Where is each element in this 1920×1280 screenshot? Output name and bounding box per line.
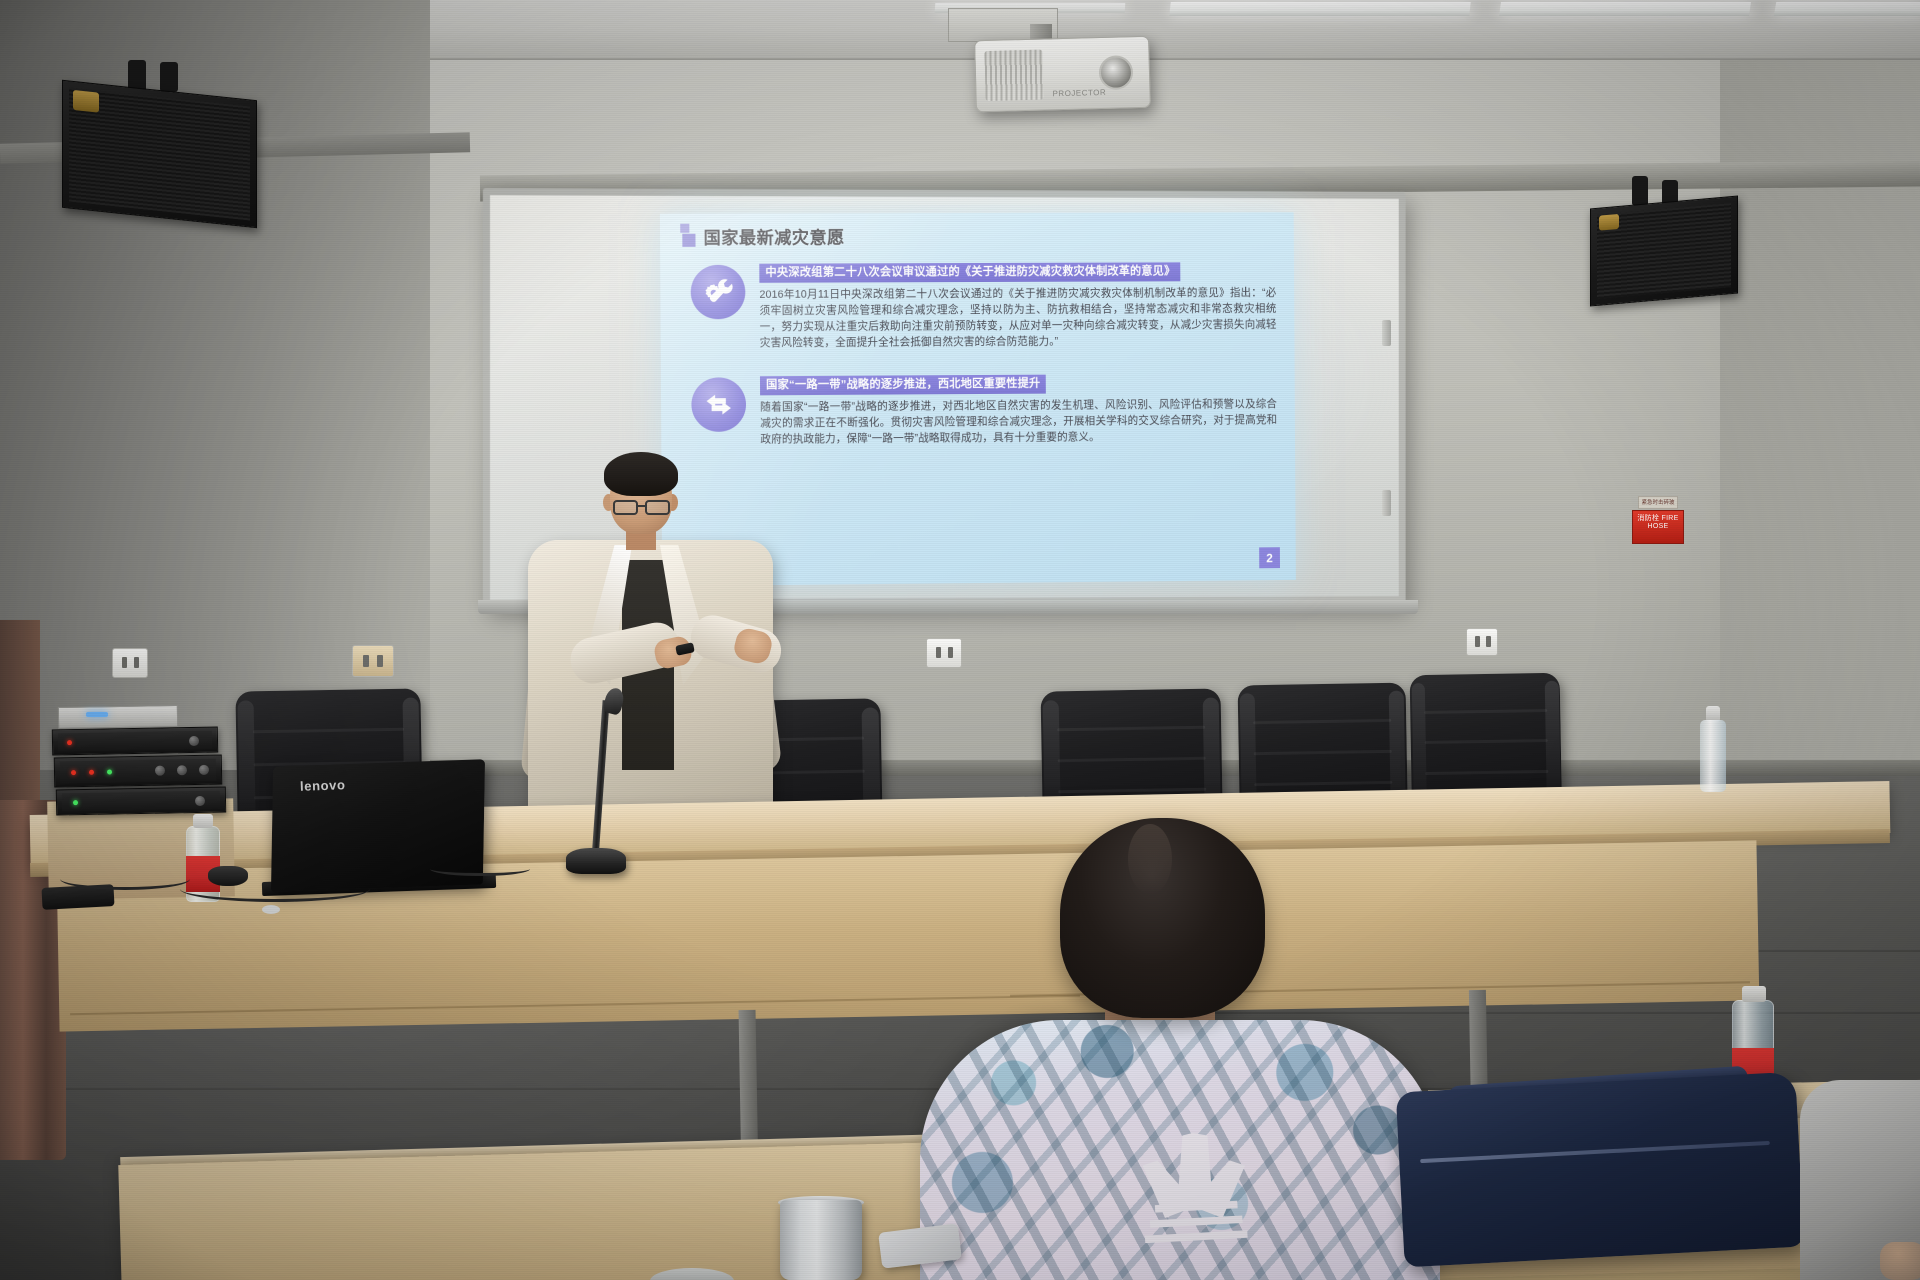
- equipment-power-led: [86, 712, 108, 717]
- whiteboard-hinge: [1382, 490, 1391, 516]
- right-edge-person-hand: [1880, 1242, 1920, 1280]
- ceiling-light: [1499, 2, 1751, 16]
- cable: [60, 868, 190, 890]
- fire-hose-sign: 消防栓 FIRE HOSE: [1632, 510, 1684, 544]
- slide-block-2-heading: 国家“一路一带”战略的逐步推进，西北地区重要性提升: [760, 375, 1045, 396]
- sanitizer-bottle[interactable]: [1700, 720, 1726, 792]
- desk-microphone[interactable]: [566, 848, 626, 874]
- slide-page-number: 2: [1259, 547, 1280, 568]
- speaker-badge: [1599, 214, 1619, 231]
- stainless-steel-mug[interactable]: [780, 1200, 862, 1280]
- projected-slide: 国家最新减灾意愿 中央深改组第二十八次会议审议通过的《关于推进防灾减灾救灾体制改…: [660, 212, 1296, 586]
- adidas-trefoil-logo: [1120, 1128, 1270, 1248]
- wall-outlet[interactable]: [1466, 628, 1498, 656]
- wall-outlet[interactable]: [926, 638, 962, 668]
- water-bottle-cap: [1742, 986, 1766, 1002]
- desk-item[interactable]: [262, 905, 280, 914]
- fire-sign-label: 紧急时击碎玻璃: [1638, 496, 1678, 509]
- whiteboard-hinge: [1382, 320, 1391, 346]
- slide-title-row: 国家最新减灾意愿: [682, 228, 1276, 247]
- slide-block-1-body: 2016年10月11日中央深改组第二十八次会议通过的《关于推进防灾减灾救灾体制机…: [759, 285, 1276, 352]
- navy-shoulder-bag[interactable]: [1396, 1072, 1805, 1268]
- amplifier-unit[interactable]: [52, 727, 218, 756]
- lecture-room-photo: PROJECTOR 国家最新减灾意愿 中央深改组第二十八次会议审议通过: [0, 0, 1920, 1280]
- ceiling-light: [1169, 2, 1470, 16]
- slide-block-2: 国家“一路一带”战略的逐步推进，西北地区重要性提升 随着国家“一路一带”战略的逐…: [683, 372, 1277, 472]
- speaker-mount: [1632, 176, 1648, 206]
- wall-speaker-right: [1590, 196, 1738, 307]
- wrench-gear-icon: [691, 265, 746, 320]
- equipment-unit-silver[interactable]: [58, 705, 178, 729]
- speaker-mount: [160, 62, 178, 92]
- wall-speaker-left: [62, 80, 257, 228]
- projector-label: PROJECTOR: [1052, 88, 1106, 98]
- audience-hair-part: [1128, 824, 1172, 894]
- speaker-badge: [73, 90, 99, 113]
- ceiling-light: [1774, 2, 1920, 16]
- slide-block-1-heading: 中央深改组第二十八次会议审议通过的《关于推进防灾减灾救灾体制改革的意见》: [759, 262, 1180, 282]
- title-decoration-square: [682, 234, 695, 247]
- wall-outlet[interactable]: [112, 648, 148, 678]
- water-bottle-cap: [193, 814, 213, 828]
- cable: [430, 862, 530, 876]
- two-way-arrows-icon: [691, 377, 746, 432]
- curtain: [0, 620, 40, 820]
- projector-lens: [1099, 55, 1134, 90]
- wall-outlet[interactable]: [352, 645, 394, 677]
- laptop-brand-logo: lenovo: [300, 777, 346, 794]
- slide-block-2-body: 随着国家“一路一带”战略的逐步推进，对西北地区自然灾害的发生机理、风险识别、风险…: [760, 396, 1277, 448]
- eyeglasses-bridge: [638, 505, 647, 507]
- eyeglasses-icon: [645, 500, 670, 515]
- ceiling-projector: PROJECTOR: [974, 36, 1151, 113]
- slide-block-1: 中央深改组第二十八次会议审议通过的《关于推进防灾减灾救灾体制改革的意见》 201…: [682, 261, 1276, 360]
- mixer-unit[interactable]: [54, 755, 222, 788]
- cable: [180, 876, 370, 902]
- title-decoration-square-small: [680, 224, 689, 233]
- receiver-unit[interactable]: [56, 787, 226, 816]
- projector-vent: [984, 50, 1043, 102]
- slide-title: 国家最新减灾意愿: [704, 229, 845, 246]
- presenter-hair: [604, 452, 678, 496]
- eyeglasses-icon: [613, 500, 638, 515]
